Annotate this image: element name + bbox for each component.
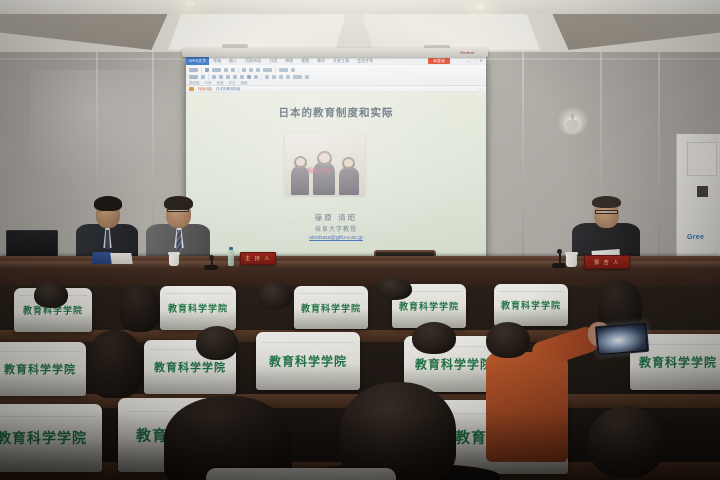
tab-section[interactable]: 章节 [313, 58, 329, 64]
divider [275, 67, 276, 73]
cover-shading [160, 286, 236, 330]
ribbon-tools-right[interactable]: ◦ ◦ ◦ [477, 87, 483, 91]
tab-page-layout[interactable]: 页面布局 [241, 58, 265, 64]
nameplate-left: 主 持 人 [240, 252, 276, 265]
bottle-cap [229, 247, 233, 250]
indent-icon[interactable] [279, 75, 283, 79]
copy-icon[interactable] [201, 75, 205, 79]
ac-grille [687, 142, 717, 176]
water-bottle [228, 250, 234, 266]
blue-folder [92, 252, 132, 264]
align-left-icon[interactable] [242, 68, 246, 72]
nameplate-left-text: 主 持 人 [241, 253, 275, 264]
feature-icon[interactable] [189, 87, 194, 91]
cover-shading [206, 468, 396, 480]
divider [261, 74, 262, 80]
find-icon[interactable] [291, 68, 295, 72]
cover-shading [0, 404, 102, 472]
spotlight-head [566, 120, 579, 132]
audience-area: 教育科学学院 教育科学学院 教育科学学院 教育科学学院 [0, 286, 720, 480]
paste-icon[interactable] [189, 68, 198, 72]
ribbon-tab-strip: WPS文字 开始 插入 页面布局 引用 审阅 视图 章节 开发工具 会员专享 未… [186, 57, 486, 65]
foreground-head [588, 406, 664, 478]
wall-seam [658, 52, 660, 284]
app-ribbon: WPS文字 开始 插入 页面布局 引用 审阅 视图 章节 开发工具 会员专享 未… [186, 57, 486, 93]
outdent-icon[interactable] [286, 75, 290, 79]
tab-insert[interactable]: 插入 [225, 58, 241, 64]
strikethrough-icon[interactable] [233, 75, 237, 79]
borders-icon[interactable] [293, 75, 302, 79]
window-controls[interactable]: — ▫ ✕ [467, 58, 484, 63]
document-path[interactable]: 日本的教育制度 [216, 87, 241, 92]
tab-view[interactable]: 视图 [297, 58, 313, 64]
photographer-head [486, 322, 530, 358]
ribbon-secondary-bar: 特色功能 日本的教育制度 ◦ ◦ ◦ [186, 86, 486, 93]
cut-icon[interactable] [189, 75, 198, 79]
grow-font-icon[interactable] [224, 68, 228, 72]
downlight-icon [472, 2, 488, 11]
audience-head-long-hair [86, 330, 144, 398]
projection-screen: WPS文字 开始 插入 页面布局 引用 审阅 视图 章节 开发工具 会员专享 未… [186, 57, 486, 270]
orange-sweater [486, 352, 568, 462]
tab-review[interactable]: 审阅 [281, 58, 297, 64]
hair [164, 196, 193, 210]
style-gallery-icon[interactable] [279, 68, 288, 72]
chair-cover: 教育科学学院 [256, 332, 360, 390]
divider [201, 67, 202, 73]
ac-brand-logo: Gree [687, 234, 717, 244]
wall-seam [522, 52, 524, 284]
slide-photo: 视觉中国 [285, 133, 365, 195]
chair-cover: 教育科学学院 [0, 342, 86, 396]
hair [592, 196, 621, 208]
chair-cover-foreground [206, 468, 396, 480]
slide-presenter-email[interactable]: sinohara@gifu-u.ac.jp [186, 235, 486, 241]
tea-cup [169, 254, 179, 266]
feature-link[interactable]: 特色功能 [198, 87, 212, 92]
shrink-font-icon[interactable] [231, 68, 235, 72]
projection-screen-roller: Redleaf [182, 48, 488, 57]
font-name-box[interactable] [205, 68, 209, 72]
divider [238, 67, 239, 73]
slide-canvas: 日本的教育制度和实际 视觉中国 篠原 清昭 岐阜大学教授 sinohara@gi… [186, 94, 486, 260]
photo-watermark: 视觉中国 [307, 166, 331, 175]
audience-head [196, 326, 238, 360]
numbering-icon[interactable] [272, 75, 276, 79]
align-right-icon[interactable] [256, 68, 260, 72]
screen-brand-label: Redleaf [460, 50, 474, 55]
ceiling-soffit [0, 0, 720, 14]
font-size-box[interactable] [212, 68, 221, 72]
eyeglasses [167, 209, 189, 212]
chair-cover: 教育科学学院 [494, 284, 568, 326]
audience-head-long-hair [120, 284, 160, 332]
cover-shading [0, 342, 86, 396]
tab-dev-tools[interactable]: 开发工具 [329, 58, 353, 64]
audience-head [412, 322, 456, 354]
align-center-icon[interactable] [249, 68, 253, 72]
bold-icon[interactable] [212, 75, 216, 79]
slide-presenter-affiliation: 岐阜大学教授 [186, 224, 486, 233]
divider [208, 74, 209, 80]
text-color-icon[interactable] [247, 75, 251, 79]
microphone-left [204, 258, 220, 270]
subscript-icon[interactable] [240, 75, 244, 79]
audience-head [376, 278, 412, 300]
nameplate-right: 报 告 人 [584, 255, 630, 269]
tab-start[interactable]: 开始 [209, 58, 225, 64]
nameplate-right-text: 报 告 人 [585, 256, 629, 268]
chair-cover: 教育科学学院 [160, 286, 236, 330]
italic-icon[interactable] [219, 75, 223, 79]
cup-lid [168, 252, 180, 255]
smartphone[interactable] [595, 322, 649, 356]
line-spacing-icon[interactable] [263, 68, 272, 72]
hair [94, 196, 122, 211]
ac-display-panel [697, 186, 708, 197]
highlight-icon[interactable] [254, 75, 258, 79]
photo-washout [285, 133, 365, 195]
foreground-head [340, 382, 456, 480]
cover-shading [294, 286, 368, 329]
bullets-icon[interactable] [265, 75, 269, 79]
chair-cover: 教育科学学院 [0, 404, 102, 472]
spotlight-fixture [566, 114, 579, 132]
phone-screen[interactable] [597, 324, 647, 354]
audience-head [34, 282, 68, 308]
mic-head [209, 255, 214, 260]
ribbon-commands: 剪贴板 字体 段落 样式 编辑 [186, 65, 486, 86]
eyeglasses [595, 210, 618, 214]
underline-icon[interactable] [226, 75, 230, 79]
lecture-hall-photo: Gree Redleaf WPS文字 开始 插入 页面布局 引用 审阅 视图 章… [0, 0, 720, 480]
wall-highlight [30, 70, 180, 190]
folder-right-page [110, 253, 133, 264]
cover-shading [494, 284, 568, 326]
mic-head [557, 249, 562, 254]
tab-reference[interactable]: 引用 [265, 58, 281, 64]
slide-presenter-name: 篠原 清昭 [186, 212, 486, 223]
tab-wps-wenzi[interactable]: WPS文字 [186, 57, 209, 65]
shading-icon[interactable] [305, 75, 309, 79]
cover-shading [256, 332, 360, 390]
audience-head [258, 282, 292, 310]
microphone-right [552, 252, 568, 268]
login-button[interactable]: 未登录 [428, 58, 450, 64]
slide-title: 日本的教育制度和实际 [186, 105, 486, 120]
tab-member[interactable]: 会员专享 [353, 58, 377, 64]
chair-cover: 教育科学学院 [294, 286, 368, 329]
